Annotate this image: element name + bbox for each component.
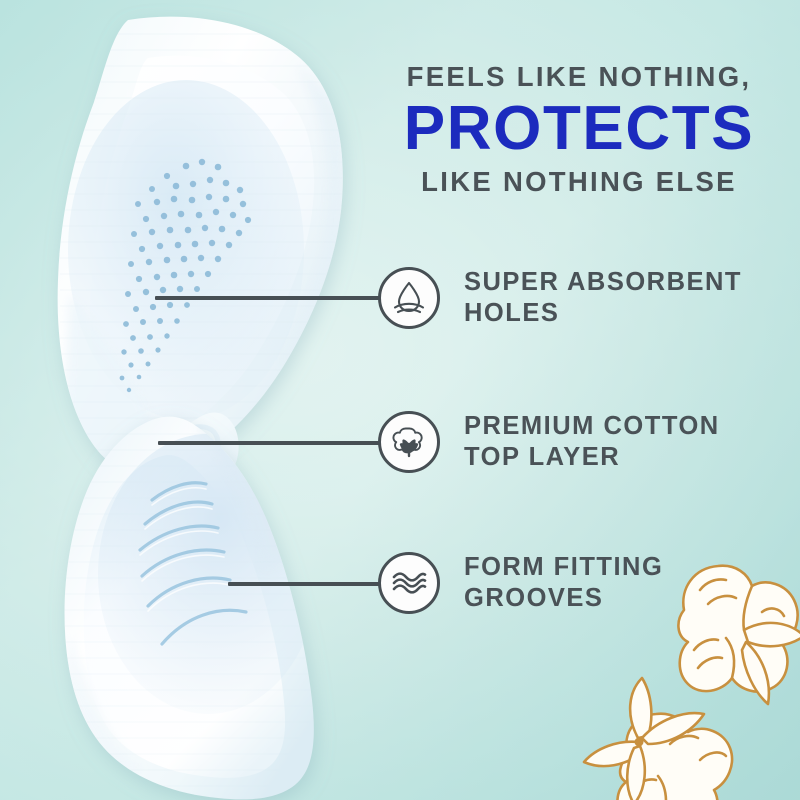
headline-line-1: FEELS LIKE NOTHING, (372, 62, 786, 92)
feature-form-fitting-grooves: FORM FITTING GROOVES (378, 552, 663, 614)
sanitary-pad-product-photo (0, 0, 400, 800)
connector-line-cotton-layer (158, 441, 390, 445)
headline-line-3: LIKE NOTHING ELSE (372, 167, 786, 197)
connector-line-absorbent-holes (155, 296, 390, 300)
feature-premium-cotton-top-layer: PREMIUM COTTON TOP LAYER (378, 411, 720, 473)
feature-super-absorbent-holes: SUPER ABSORBENT HOLES (378, 267, 742, 329)
feature-label: PREMIUM COTTON TOP LAYER (464, 411, 720, 473)
water-drop-icon (378, 267, 440, 329)
cotton-boll-icon (378, 411, 440, 473)
product-feature-graphic: FEELS LIKE NOTHING, PROTECTS LIKE NOTHIN… (0, 0, 800, 800)
headline-block: FEELS LIKE NOTHING, PROTECTS LIKE NOTHIN… (372, 62, 786, 196)
wavy-lines-icon (378, 552, 440, 614)
feature-label: FORM FITTING GROOVES (464, 552, 663, 614)
headline-emphasis: PROTECTS (372, 96, 786, 161)
pad-lower-section (50, 417, 340, 800)
connector-line-grooves (228, 582, 390, 586)
feature-label: SUPER ABSORBENT HOLES (464, 267, 742, 329)
